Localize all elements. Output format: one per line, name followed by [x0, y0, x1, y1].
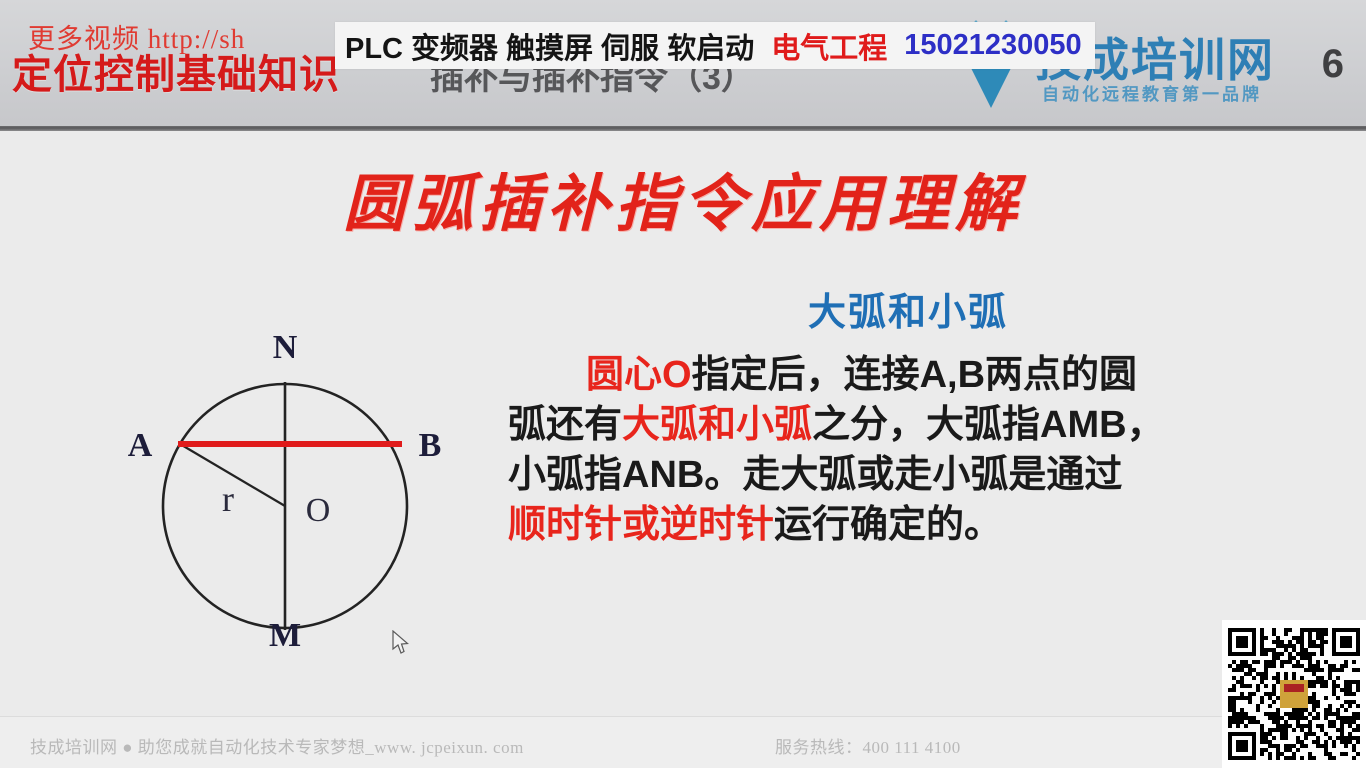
ad-phone-number: 15021230050 [904, 29, 1081, 62]
footer-hotline: 服务热线：400 111 4100 [775, 733, 961, 758]
body-text: 指定后，连接A,B两点的圆 [692, 354, 1137, 396]
paragraph-host: 圆心O指定后，连接A,B两点的圆弧还有大弧和小弧之分，大弧指AMB，小弧指ANB… [508, 350, 1308, 551]
paragraph-line: 小弧指ANB。走大弧或走小弧是通过 [508, 450, 1308, 500]
slide-content-area: 圆弧插补指令应用理解 N M A B O r 大弧和小弧 [0, 131, 1366, 716]
qr-code-icon [1228, 626, 1360, 762]
body-text: 之分，大弧指AMB， [812, 404, 1165, 446]
label-m: M [269, 617, 301, 646]
qr-code-panel[interactable] [1222, 620, 1366, 768]
paragraph-line: 圆心O指定后，连接A,B两点的圆 [508, 350, 1308, 400]
highlight-text: 顺时针或逆时针 [508, 504, 774, 546]
label-b: B [419, 427, 442, 464]
paragraph-line: 顺时针或逆时针运行确定的。 [508, 500, 1308, 550]
label-a: A [128, 427, 153, 464]
highlight-text: 大弧和小弧 [622, 404, 812, 446]
sub-heading: 大弧和小弧 [508, 281, 1308, 336]
slide-footer: 技成培训网 ● 助您成就自动化技术专家梦想_www. jcpeixun. com… [0, 716, 1366, 768]
page-number: 6 [1322, 42, 1344, 87]
content-title: 圆弧插补指令应用理解 [0, 153, 1366, 243]
ad-keywords: PLC 变频器 触摸屏 伺服 软启动 [345, 25, 754, 67]
label-radius: r [222, 479, 234, 519]
highlight-text: 圆心O [586, 354, 692, 396]
body-text: 小弧指ANB。走大弧或走小弧是通过 [508, 454, 1122, 496]
body-text: 运行确定的。 [774, 504, 1002, 546]
label-o: O [306, 492, 331, 529]
paragraph-line: 弧还有大弧和小弧之分，大弧指AMB， [508, 400, 1308, 450]
circle-diagram-svg: N M A B O r [110, 316, 470, 646]
mouse-cursor-icon [392, 630, 410, 656]
slide-root: 定位控制基础知识 插补与插补指令（3） 技成培训网 自动化远程教育第一品牌 6 … [0, 0, 1366, 768]
brand-tagline: 自动化远程教育第一品牌 [1042, 80, 1262, 105]
footer-site-info: 技成培训网 ● 助您成就自动化技术专家梦想_www. jcpeixun. com [30, 733, 524, 758]
circle-diagram: N M A B O r [110, 316, 470, 646]
watermark-url: 更多视频 http://sh [28, 17, 245, 56]
label-n: N [273, 329, 298, 366]
explanation-text-block: 大弧和小弧 圆心O指定后，连接A,B两点的圆弧还有大弧和小弧之分，大弧指AMB，… [508, 281, 1308, 551]
body-text: 弧还有 [508, 404, 622, 446]
ad-hot-keyword: 电气工程 [771, 25, 887, 67]
ad-banner-overlay[interactable]: PLC 变频器 触摸屏 伺服 软启动 电气工程 15021230050 [335, 22, 1095, 69]
